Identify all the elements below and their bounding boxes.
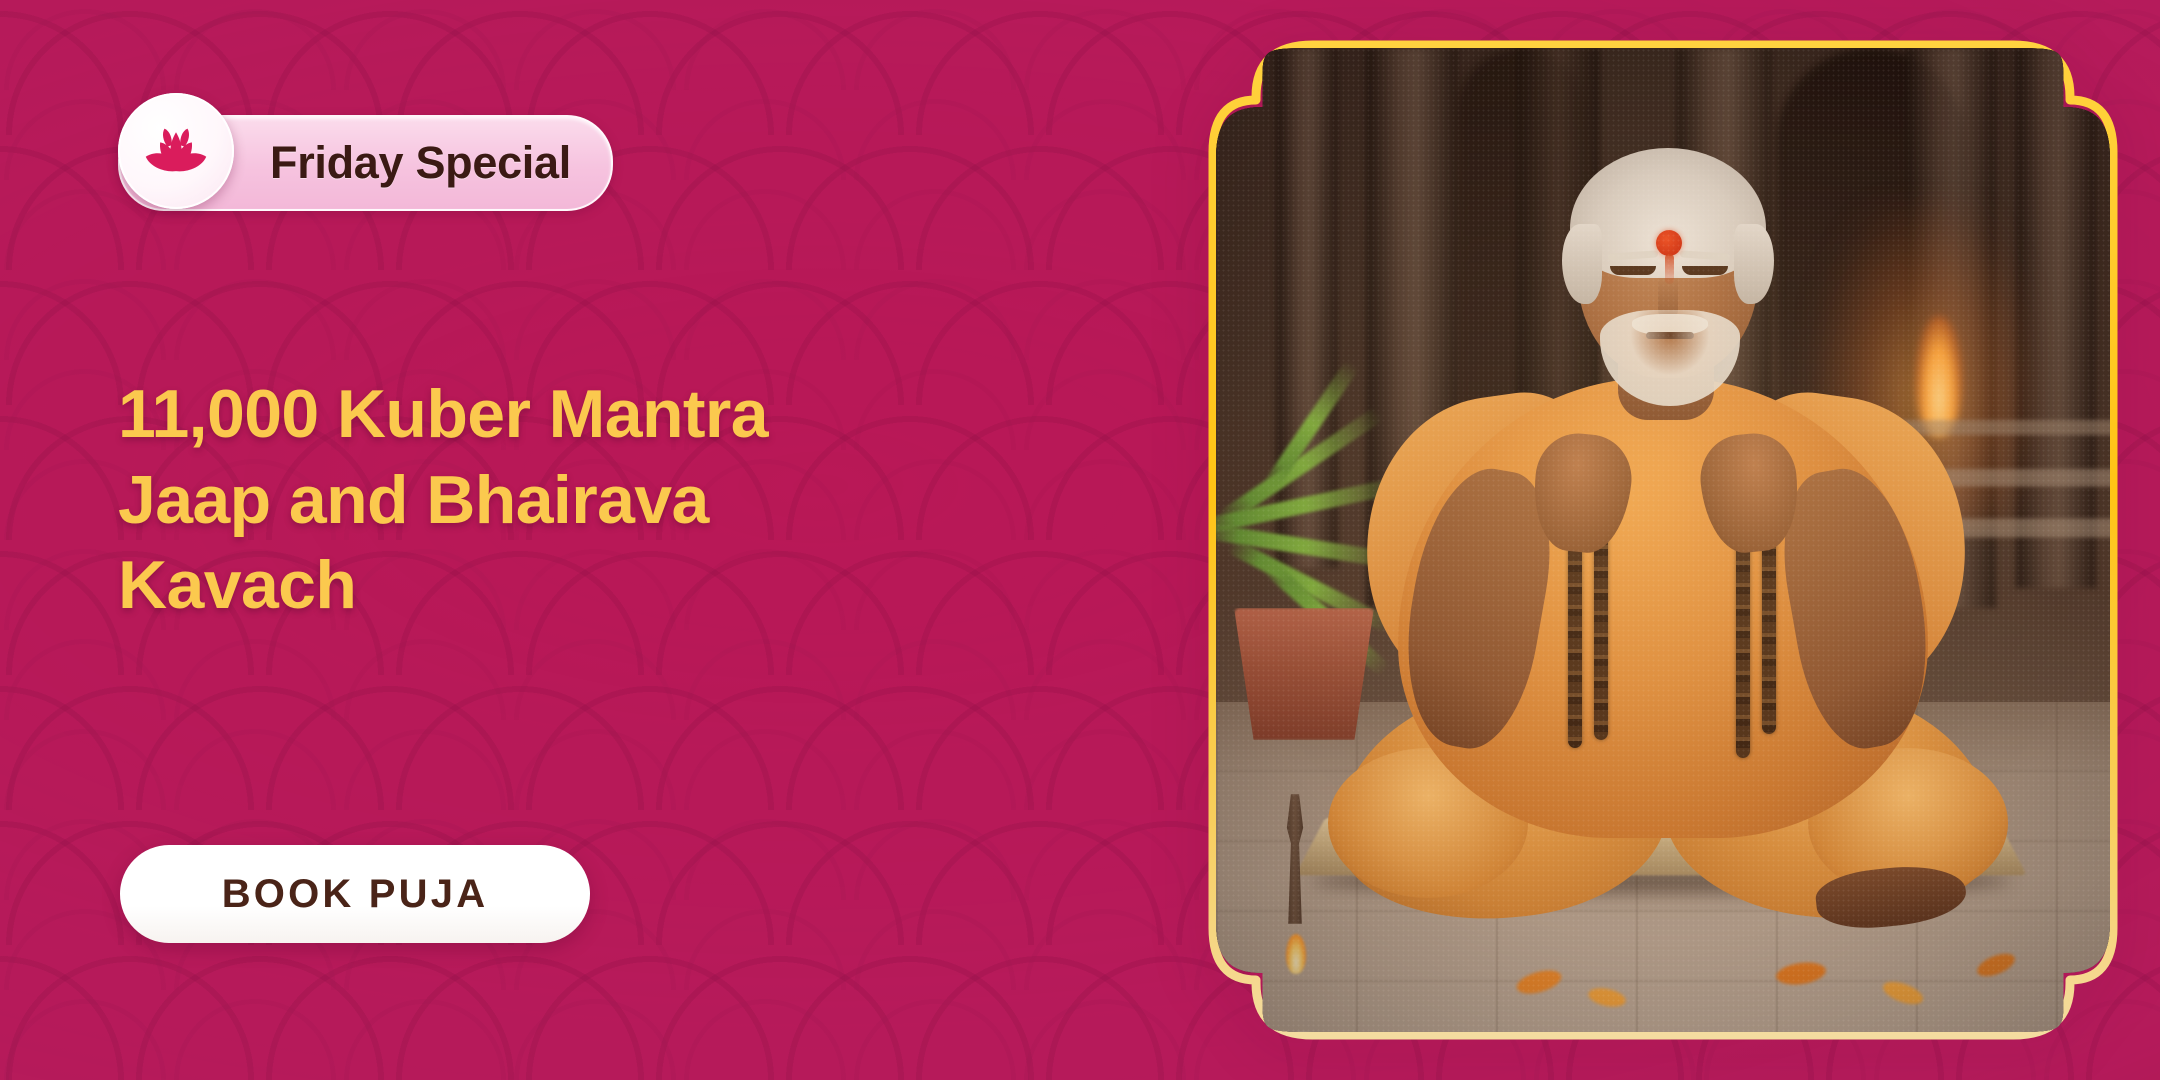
headline-line-2: Jaap and Bhairava bbox=[118, 458, 978, 544]
badge-label: Friday Special bbox=[270, 137, 571, 189]
headline-line-3: Kavach bbox=[118, 543, 978, 629]
meditating-priest bbox=[1216, 48, 2110, 1032]
puja-photo bbox=[1216, 48, 2110, 1032]
book-puja-label: BOOK PUJA bbox=[222, 872, 489, 917]
puja-photo-card bbox=[1208, 40, 2118, 1040]
book-puja-button[interactable]: BOOK PUJA bbox=[120, 845, 590, 943]
lotus-icon bbox=[118, 93, 234, 209]
rudraksha-mala bbox=[1568, 528, 1582, 748]
promo-banner: Friday Special bbox=[0, 0, 2160, 1080]
friday-special-badge: Friday Special bbox=[118, 105, 613, 221]
tilak-mark bbox=[1656, 230, 1682, 256]
headline-line-1: 11,000 Kuber Mantra bbox=[118, 372, 978, 458]
left-content-column: Friday Special bbox=[0, 0, 1180, 1080]
headline: 11,000 Kuber Mantra Jaap and Bhairava Ka… bbox=[118, 372, 978, 629]
